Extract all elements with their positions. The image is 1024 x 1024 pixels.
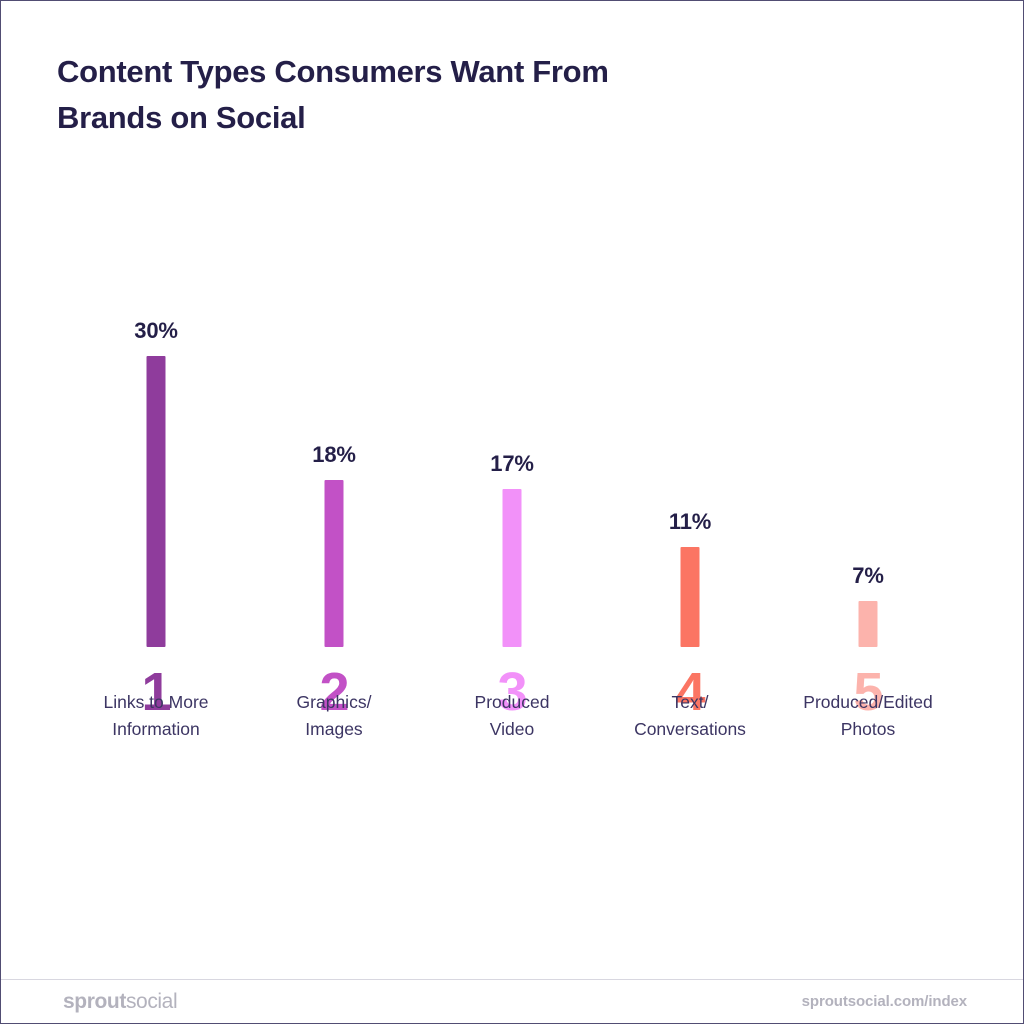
bar-2 (325, 480, 344, 647)
bar-value-label-2: 18% (312, 442, 355, 468)
bar-3 (503, 489, 522, 647)
footer-divider (1, 979, 1023, 980)
bar-category-label-5: Produced/Edited Photos (763, 689, 973, 743)
bar-column-3: 17% 3 Produced Video (423, 1, 601, 961)
bar-value-label-3: 17% (490, 451, 533, 477)
logo-word-social: social (126, 990, 177, 1013)
infographic-canvas: Content Types Consumers Want From Brands… (0, 0, 1024, 1024)
bar-5 (859, 601, 878, 647)
bar-column-5: 7% 5 Produced/Edited Photos (779, 1, 957, 961)
bar-value-label-1: 30% (134, 318, 177, 344)
bar-column-1: 30% 1 Links to More Information (67, 1, 245, 961)
sprout-social-logo: sproutsocial (63, 989, 177, 1015)
bar-chart: 30% 1 Links to More Information 18% 2 Gr… (1, 1, 1024, 961)
bar-value-label-4: 11% (669, 509, 711, 535)
footer-site-url: sproutsocial.com/index (802, 992, 967, 1012)
bar-4 (681, 547, 700, 647)
bar-value-label-5: 7% (852, 563, 883, 589)
bar-column-4: 11% 4 Text/ Conversations (601, 1, 779, 961)
bar-column-2: 18% 2 Graphics/ Images (245, 1, 423, 961)
bar-1 (147, 356, 166, 647)
logo-word-sprout: sprout (63, 990, 126, 1013)
